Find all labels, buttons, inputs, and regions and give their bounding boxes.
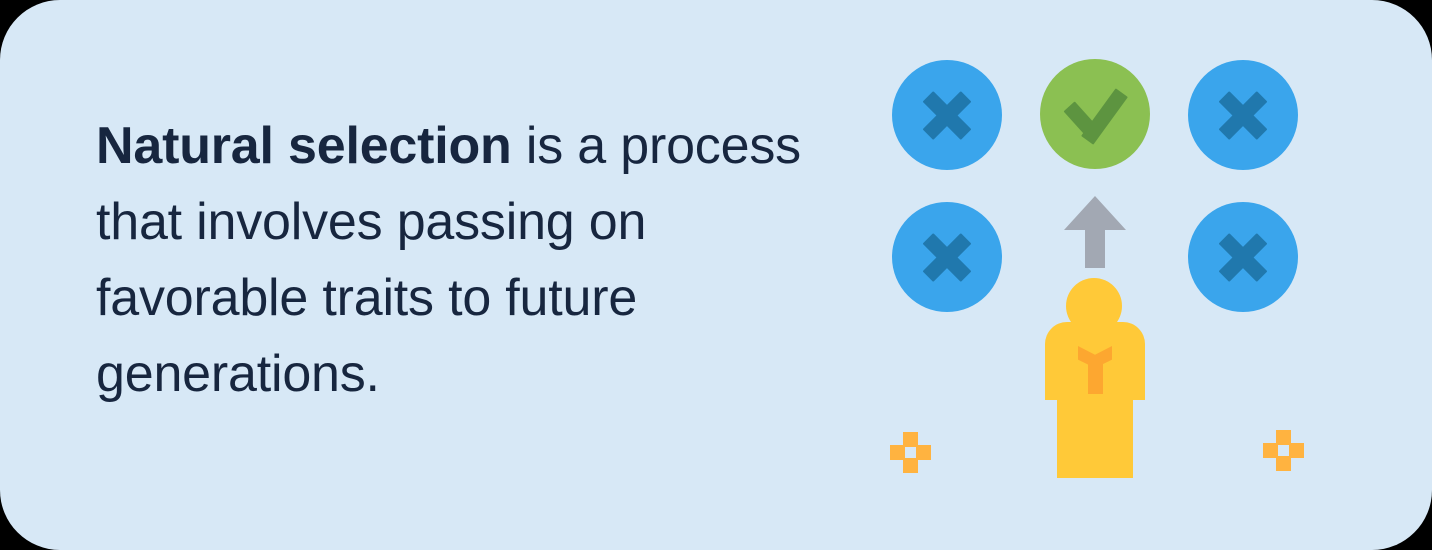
check-mark-icon xyxy=(1063,88,1127,140)
statement-lead: Natural selection xyxy=(96,117,512,175)
illustration xyxy=(860,0,1432,550)
x-mark-icon xyxy=(921,89,973,141)
reject-top-left xyxy=(892,60,1002,170)
page-title: Natural selection is a process that invo… xyxy=(96,108,816,412)
plus-ornament-left xyxy=(890,432,930,472)
person-icon xyxy=(1045,278,1145,478)
accept-top-center xyxy=(1040,59,1150,169)
x-mark-icon xyxy=(1217,231,1269,283)
reject-middle-right xyxy=(1188,202,1298,312)
reject-middle-left xyxy=(892,202,1002,312)
x-mark-icon xyxy=(1217,89,1269,141)
infographic-card: Natural selection is a process that invo… xyxy=(0,0,1432,550)
plus-ornament-right xyxy=(1263,430,1303,470)
text-panel: Natural selection is a process that invo… xyxy=(96,108,816,412)
arrow-up-icon xyxy=(1064,196,1126,268)
x-mark-icon xyxy=(921,231,973,283)
reject-top-right xyxy=(1188,60,1298,170)
